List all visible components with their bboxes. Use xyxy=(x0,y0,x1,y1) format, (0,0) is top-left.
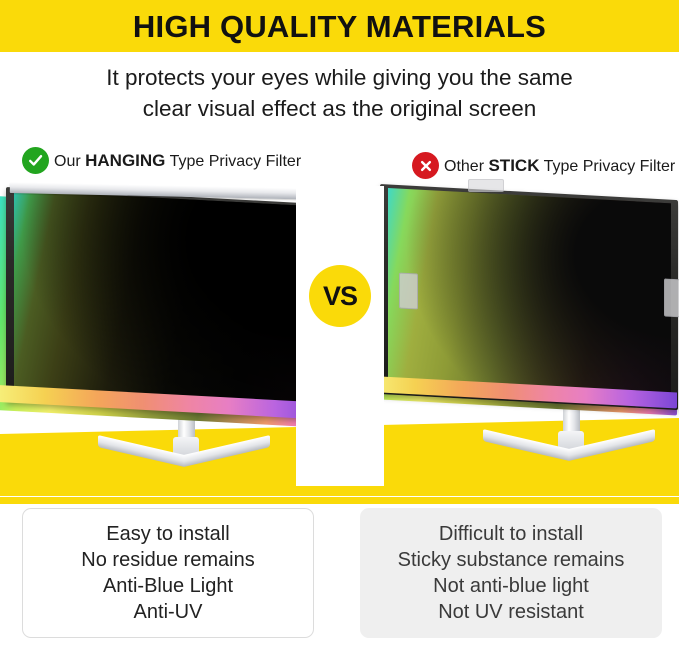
monitor-hanging-type xyxy=(0,182,339,422)
label-stick-type: Other STICK Type Privacy Filter xyxy=(412,152,675,179)
header-banner: HIGH QUALITY MATERIALS xyxy=(0,0,679,52)
feature-line: Difficult to install xyxy=(439,521,583,547)
feature-line: Anti-UV xyxy=(134,599,203,625)
label-stick-emphasis: STICK xyxy=(488,156,539,175)
label-stick-text: Other STICK Type Privacy Filter xyxy=(444,156,675,176)
page-title: HIGH QUALITY MATERIALS xyxy=(133,11,546,42)
feature-line: Not anti-blue light xyxy=(433,573,589,599)
feature-line: No residue remains xyxy=(81,547,254,573)
feature-line: Anti-Blue Light xyxy=(103,573,233,599)
vs-badge: VS xyxy=(309,265,371,327)
subtitle-line-2: clear visual effect as the original scre… xyxy=(0,93,679,124)
feature-box-hanging: Easy to install No residue remains Anti-… xyxy=(22,508,314,638)
check-circle-icon xyxy=(22,147,49,174)
subtitle-line-1: It protects your eyes while giving you t… xyxy=(0,62,679,93)
adhesive-tab-top xyxy=(468,179,504,192)
label-hanging-text: Our HANGING Type Privacy Filter xyxy=(54,151,301,171)
vs-label: VS xyxy=(323,283,357,310)
adhesive-tab-left xyxy=(399,272,418,309)
label-hanging-suffix: Type Privacy Filter xyxy=(165,153,301,170)
monitor-right-panel xyxy=(372,176,679,414)
infographic-page: HIGH QUALITY MATERIALS It protects your … xyxy=(0,0,679,648)
label-hanging-type: Our HANGING Type Privacy Filter xyxy=(22,147,301,174)
floor-strip xyxy=(0,497,679,504)
center-gap xyxy=(296,186,384,486)
x-circle-icon xyxy=(412,152,439,179)
monitor-screen-left xyxy=(14,190,325,403)
monitor-left-panel xyxy=(0,182,339,422)
label-hanging-prefix: Our xyxy=(54,153,85,170)
feature-line: Not UV resistant xyxy=(438,599,584,625)
monitor-stick-type xyxy=(372,176,679,414)
feature-box-stick: Difficult to install Sticky substance re… xyxy=(360,508,662,638)
label-stick-suffix: Type Privacy Filter xyxy=(539,158,675,175)
label-stick-prefix: Other xyxy=(444,158,488,175)
monitor-screen-right xyxy=(388,188,671,393)
adhesive-tab-right xyxy=(664,278,679,317)
subtitle: It protects your eyes while giving you t… xyxy=(0,62,679,124)
label-hanging-emphasis: HANGING xyxy=(85,151,165,170)
feature-line: Sticky substance remains xyxy=(398,547,625,573)
feature-line: Easy to install xyxy=(106,521,229,547)
